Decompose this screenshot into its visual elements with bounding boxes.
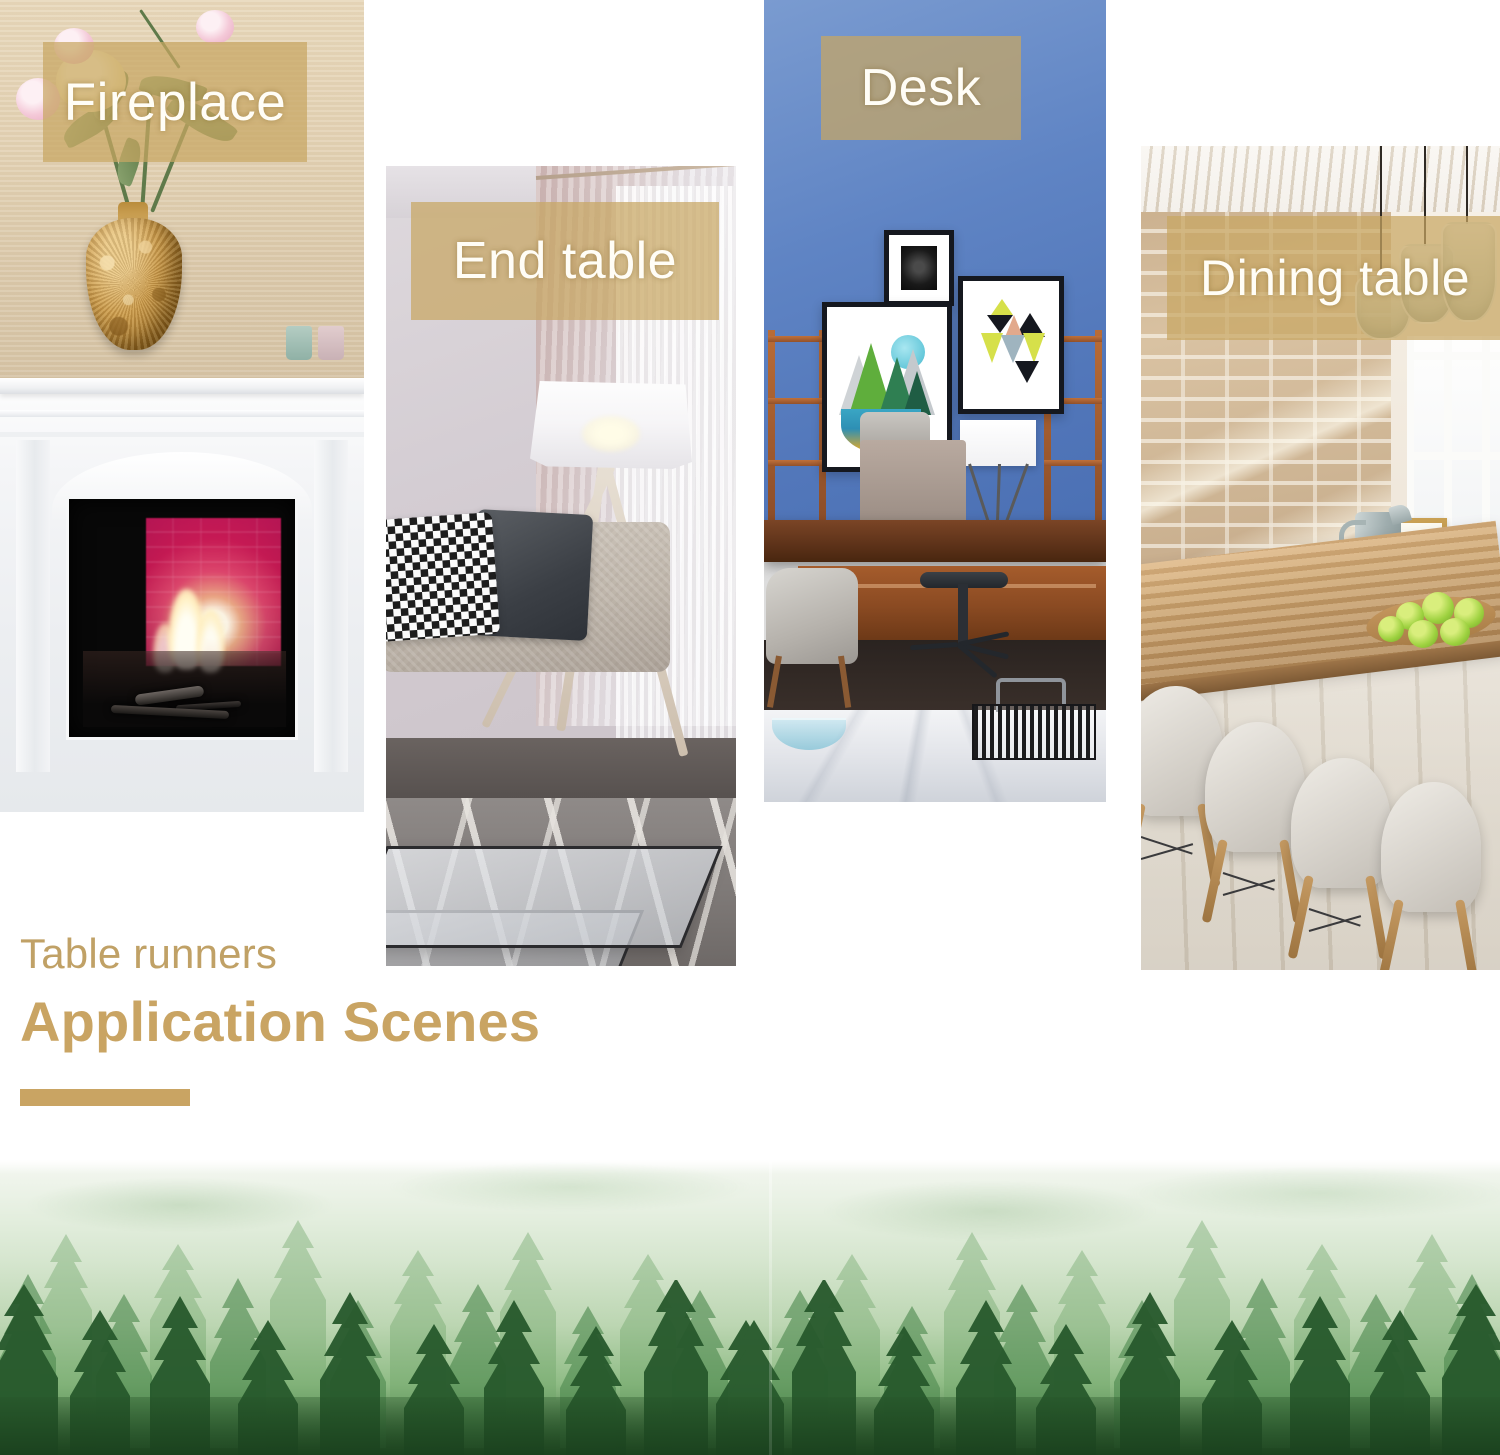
throw-pillow-checkered (386, 512, 500, 642)
votive-candle-pink (318, 326, 344, 360)
mantel-shelf (0, 378, 364, 394)
triangle (991, 299, 1013, 315)
runner-undergrowth (0, 1397, 1500, 1455)
wood-desk-top (764, 520, 1106, 562)
headline-title: Application Scenes (20, 989, 720, 1055)
triangle (1005, 315, 1023, 337)
framed-print-small (884, 230, 954, 306)
mantel-column-left (16, 440, 50, 772)
headline-rule (20, 1089, 190, 1106)
triangle (1015, 361, 1039, 383)
accent-armchair (766, 568, 862, 714)
geometric-artwork (971, 289, 1051, 401)
scene-label-dining-table: Dining table (1167, 216, 1500, 340)
triangle (1001, 335, 1025, 363)
triangle (981, 333, 1003, 363)
scene-panel-fireplace[interactable]: Fireplace (0, 0, 364, 812)
lamp-glow (582, 416, 640, 452)
scene-label-desk: Desk (821, 36, 1021, 140)
green-apple (1440, 618, 1470, 646)
dining-chair (1381, 782, 1485, 970)
headline-block: Table runners Application Scenes (20, 930, 720, 1106)
marketing-canvas: Fireplace (0, 0, 1500, 1455)
chair-post (958, 584, 968, 646)
desk-lamp-base (964, 464, 1034, 524)
laptop (860, 440, 966, 524)
firebox (66, 496, 298, 740)
scene-label-end-table: End table (411, 202, 719, 320)
wall-shelf-left (768, 330, 826, 526)
chair-shell (1291, 758, 1391, 888)
mantel-trim-upper (0, 410, 364, 417)
scene-panel-dining-table[interactable]: Dining table (1141, 146, 1500, 970)
desk-lamp-shade (960, 420, 1036, 466)
mantel-column-right (314, 440, 348, 772)
plank-ceiling (1141, 146, 1500, 212)
table-runner-product-band[interactable] (0, 1160, 1500, 1455)
votive-candle-green (286, 326, 312, 360)
glass-end-table (386, 664, 736, 844)
chair-shell (1381, 782, 1481, 912)
green-apple (1408, 620, 1438, 648)
framed-print-geometric (958, 276, 1064, 414)
headline-subtitle: Table runners (20, 930, 720, 977)
scene-label-fireplace: Fireplace (43, 42, 307, 162)
wire-basket (972, 704, 1096, 760)
flower-bloom (196, 10, 234, 44)
dining-chair (1291, 758, 1395, 958)
runner-mirror-seam (769, 1160, 772, 1455)
chair-shell (1205, 722, 1305, 852)
triangle (1023, 333, 1045, 363)
armchair-shell (766, 568, 858, 664)
scene-panel-desk[interactable]: Desk (764, 0, 1106, 802)
log-pile (83, 651, 286, 727)
mantel-trim-lower (0, 432, 364, 437)
green-apple (1378, 616, 1404, 642)
scene-panel-end-table[interactable]: End table (386, 166, 736, 966)
